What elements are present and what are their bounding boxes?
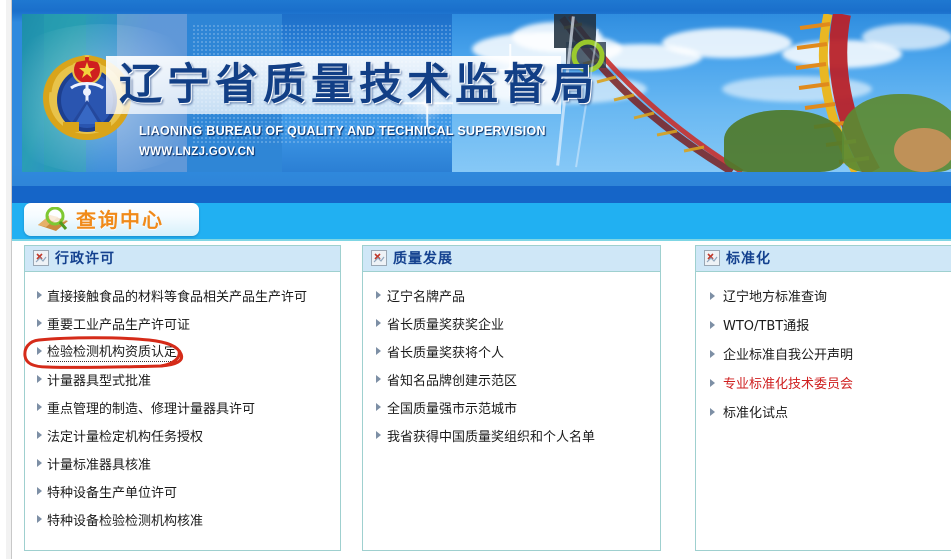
panel-quality-development: 质量发展 辽宁名牌产品 省长质量奖获奖企业 省长质量奖获将个人 省知名品牌创建示… bbox=[362, 245, 661, 551]
bullet-triangle-icon bbox=[710, 292, 715, 300]
site-banner: 辽宁省质量技术监督局 LIAONING BUREAU OF QUALITY AN… bbox=[11, 0, 951, 186]
link-label[interactable]: 重要工业产品生产许可证 bbox=[47, 314, 190, 333]
bullet-triangle-icon bbox=[376, 375, 381, 383]
tab-query-center[interactable]: 查询中心 bbox=[24, 203, 199, 236]
broken-image-icon bbox=[371, 250, 387, 266]
link-label[interactable]: 重点管理的制造、修理计量器具许可 bbox=[47, 398, 255, 417]
link-label[interactable]: 省长质量奖获将个人 bbox=[387, 342, 504, 361]
link-label[interactable]: 辽宁名牌产品 bbox=[387, 286, 465, 305]
list-item[interactable]: 计量标准器具核准 bbox=[25, 449, 340, 477]
tree-foliage bbox=[894, 128, 951, 172]
bullet-triangle-icon bbox=[376, 431, 381, 439]
link-label[interactable]: 直接接触食品的材料等食品相关产品生产许可 bbox=[47, 286, 307, 305]
bullet-triangle-icon bbox=[37, 487, 42, 495]
list-item[interactable]: 法定计量检定机构任务授权 bbox=[25, 421, 340, 449]
site-title-en: LIAONING BUREAU OF QUALITY AND TECHNICAL… bbox=[139, 124, 546, 138]
roller-coaster-graphic bbox=[542, 14, 951, 172]
bullet-triangle-icon bbox=[710, 350, 715, 358]
site-url: WWW.LNZJ.GOV.CN bbox=[139, 146, 255, 158]
bullet-triangle-icon bbox=[710, 408, 715, 416]
broken-image-icon bbox=[704, 250, 720, 266]
bullet-triangle-icon bbox=[710, 379, 715, 387]
panel-link-list: 辽宁名牌产品 省长质量奖获奖企业 省长质量奖获将个人 省知名品牌创建示范区 全国… bbox=[363, 272, 660, 449]
list-item[interactable]: 直接接触食品的材料等食品相关产品生产许可 bbox=[25, 281, 340, 309]
link-label[interactable]: 全国质量强市示范城市 bbox=[387, 398, 517, 417]
site-title-cn: 辽宁省质量技术监督局 bbox=[119, 57, 559, 113]
bullet-triangle-icon bbox=[37, 403, 42, 411]
panel-header: 行政许可 bbox=[25, 246, 340, 272]
list-item[interactable]: 省长质量奖获将个人 bbox=[363, 337, 660, 365]
link-label[interactable]: WTO/TBT通报 bbox=[723, 315, 809, 334]
broken-image-icon bbox=[33, 250, 49, 266]
panel-title: 质量发展 bbox=[393, 246, 453, 272]
link-label[interactable]: 辽宁地方标准查询 bbox=[723, 286, 827, 305]
list-item[interactable]: 企业标准自我公开声明 bbox=[696, 339, 951, 368]
bullet-triangle-icon bbox=[37, 347, 42, 355]
link-label[interactable]: 检验检测机构资质认定 bbox=[47, 341, 177, 362]
link-label[interactable]: 计量器具型式批准 bbox=[47, 370, 151, 389]
link-label[interactable]: 特种设备生产单位许可 bbox=[47, 482, 177, 501]
link-label[interactable]: 计量标准器具核准 bbox=[47, 454, 151, 473]
magnifier-book-icon bbox=[36, 207, 70, 233]
page-root: 辽宁省质量技术监督局 LIAONING BUREAU OF QUALITY AN… bbox=[0, 0, 951, 559]
list-item[interactable]: 计量器具型式批准 bbox=[25, 365, 340, 393]
content-area: 行政许可 直接接触食品的材料等食品相关产品生产许可 重要工业产品生产许可证 检验… bbox=[11, 241, 951, 559]
list-item[interactable]: 标准化试点 bbox=[696, 397, 951, 426]
list-item[interactable]: 重点管理的制造、修理计量器具许可 bbox=[25, 393, 340, 421]
browser-left-edge bbox=[0, 0, 12, 559]
bullet-triangle-icon bbox=[376, 291, 381, 299]
bullet-triangle-icon bbox=[37, 291, 42, 299]
bullet-triangle-icon bbox=[37, 375, 42, 383]
panel-title: 标准化 bbox=[726, 246, 771, 272]
panel-link-list: 辽宁地方标准查询 WTO/TBT通报 企业标准自我公开声明 专业标准化技术委员会… bbox=[696, 272, 951, 426]
link-label[interactable]: 法定计量检定机构任务授权 bbox=[47, 426, 203, 445]
bullet-triangle-icon bbox=[37, 431, 42, 439]
panel-administrative-licensing: 行政许可 直接接触食品的材料等食品相关产品生产许可 重要工业产品生产许可证 检验… bbox=[24, 245, 341, 551]
link-label[interactable]: 我省获得中国质量奖组织和个人名单 bbox=[387, 426, 595, 445]
list-item[interactable]: WTO/TBT通报 bbox=[696, 310, 951, 339]
list-item[interactable]: 特种设备检验检测机构核准 bbox=[25, 505, 340, 533]
link-label[interactable]: 省长质量奖获奖企业 bbox=[387, 314, 504, 333]
bullet-triangle-icon bbox=[37, 319, 42, 327]
bullet-triangle-icon bbox=[376, 347, 381, 355]
browser-left-edge-inner bbox=[0, 0, 6, 559]
bullet-triangle-icon bbox=[37, 459, 42, 467]
list-item[interactable]: 省知名品牌创建示范区 bbox=[363, 365, 660, 393]
nav-band-dark bbox=[11, 186, 951, 203]
tree-foliage bbox=[724, 110, 844, 172]
panel-link-list: 直接接触食品的材料等食品相关产品生产许可 重要工业产品生产许可证 检验检测机构资… bbox=[25, 272, 340, 533]
bullet-triangle-icon bbox=[376, 403, 381, 411]
list-item[interactable]: 省长质量奖获奖企业 bbox=[363, 309, 660, 337]
link-label[interactable]: 特种设备检验检测机构核准 bbox=[47, 510, 203, 529]
panel-header: 标准化 bbox=[696, 246, 951, 272]
panel-header: 质量发展 bbox=[363, 246, 660, 272]
tab-query-center-label: 查询中心 bbox=[76, 206, 164, 234]
link-label[interactable]: 专业标准化技术委员会 bbox=[723, 373, 853, 392]
list-item-inspection-qualification[interactable]: 检验检测机构资质认定 bbox=[25, 337, 340, 365]
bullet-triangle-icon bbox=[376, 319, 381, 327]
list-item[interactable]: 专业标准化技术委员会 bbox=[696, 368, 951, 397]
panel-standardization: 标准化 辽宁地方标准查询 WTO/TBT通报 企业标准自我公开声明 专业标准化技… bbox=[695, 245, 951, 551]
list-item[interactable]: 特种设备生产单位许可 bbox=[25, 477, 340, 505]
link-label[interactable]: 标准化试点 bbox=[723, 402, 788, 421]
link-label[interactable]: 省知名品牌创建示范区 bbox=[387, 370, 517, 389]
list-item[interactable]: 我省获得中国质量奖组织和个人名单 bbox=[363, 421, 660, 449]
list-item[interactable]: 辽宁名牌产品 bbox=[363, 281, 660, 309]
bullet-triangle-icon bbox=[37, 515, 42, 523]
list-item[interactable]: 全国质量强市示范城市 bbox=[363, 393, 660, 421]
panel-title: 行政许可 bbox=[55, 246, 115, 272]
bullet-triangle-icon bbox=[710, 321, 715, 329]
list-item[interactable]: 辽宁地方标准查询 bbox=[696, 281, 951, 310]
list-item[interactable]: 重要工业产品生产许可证 bbox=[25, 309, 340, 337]
page-bottom-gutter bbox=[11, 551, 951, 559]
link-label[interactable]: 企业标准自我公开声明 bbox=[723, 344, 853, 363]
